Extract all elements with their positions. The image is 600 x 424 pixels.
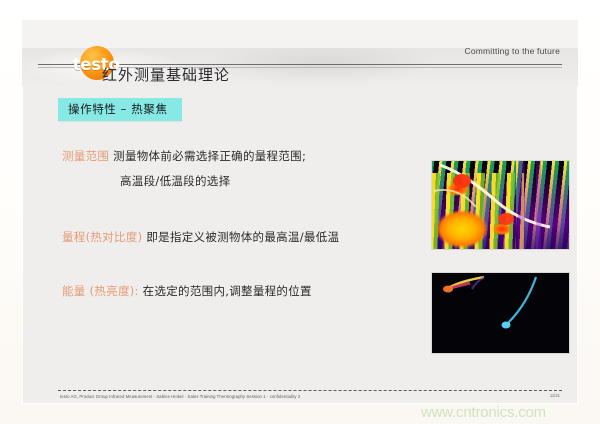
slide-title: 红外测量基础理论 — [102, 64, 230, 85]
body-paragraph-3-text: 在选定的范围内,调整量程的位置 — [139, 284, 312, 298]
body-paragraph-3-highlight: 能量 (热亮度): — [62, 284, 139, 298]
thermal-image-dark-wires — [432, 273, 569, 353]
body-paragraph-1: 测量范围 测量物体前必需选择正确的量程范围; 高温段/低温段的选择 — [62, 148, 422, 189]
brand-tagline: Committing to the future — [464, 46, 560, 56]
site-watermark: www.cntronics.com — [421, 404, 546, 421]
body-paragraph-1-text: 测量物体前必需选择正确的量程范围; — [109, 149, 306, 163]
thermal-image-insulators-wire-overlay — [432, 161, 569, 249]
slide-top-band — [22, 20, 578, 48]
body-paragraph-1-indent: 高温段/低温段的选择 — [62, 173, 422, 189]
body-paragraph-3: 能量 (热亮度): 在选定的范围内,调整量程的位置 — [62, 283, 422, 299]
slide-body: 测量范围 测量物体前必需选择正确的量程范围; 高温段/低温段的选择 量程(热对比… — [62, 140, 422, 299]
body-paragraph-2-text: 即是指定义被测物体的最高温/最低温 — [142, 230, 339, 244]
body-paragraph-2-highlight: 量程(热对比度) — [62, 230, 142, 244]
body-paragraph-1-highlight: 测量范围 — [62, 149, 109, 163]
thermal-image-insulators — [432, 161, 569, 249]
slide-canvas: testo Committing to the future 红外测量基础理论 … — [22, 20, 578, 404]
body-paragraph-2: 量程(热对比度) 即是指定义被测物体的最高温/最低温 — [62, 229, 422, 245]
footer-divider — [58, 390, 562, 391]
footer-text: testo AG, Product Group Infrared Measure… — [60, 394, 300, 399]
slide-root: testo Committing to the future 红外测量基础理论 … — [0, 0, 600, 424]
thermal-image-dark-wires-overlay — [432, 273, 569, 353]
slide-subtitle-chip: 操作特性 – 热聚焦 — [58, 98, 182, 121]
footer-page-number: 11/21 — [550, 393, 560, 398]
